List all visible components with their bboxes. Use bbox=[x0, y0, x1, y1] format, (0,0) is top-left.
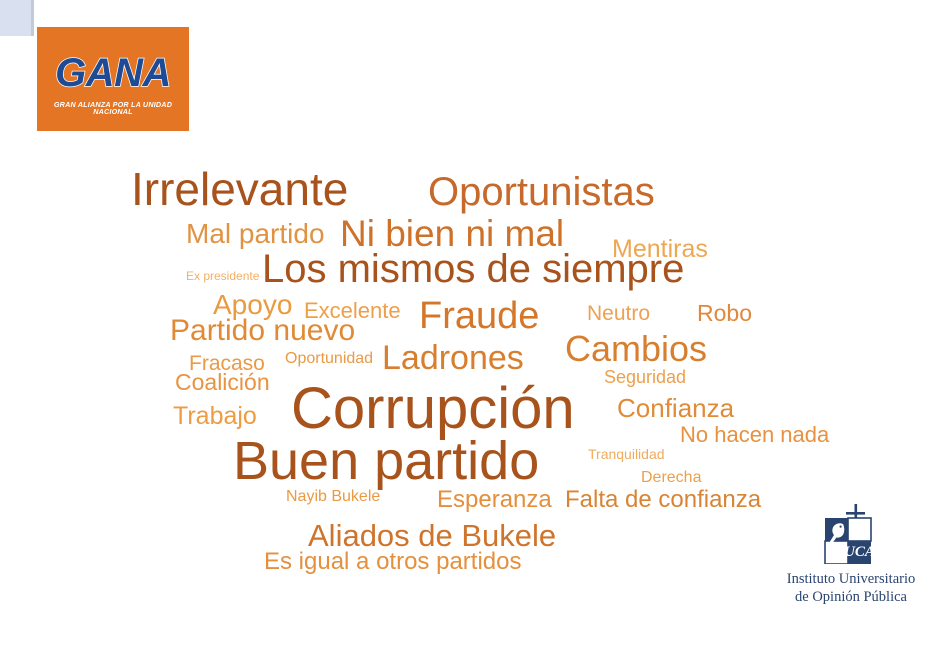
cloud-word: Nayib Bukele bbox=[286, 489, 380, 505]
cloud-word: Oportunidad bbox=[285, 351, 373, 367]
cloud-word: Aliados de Bukele bbox=[308, 520, 556, 551]
cloud-word: Derecha bbox=[641, 470, 701, 486]
cloud-word: Seguridad bbox=[604, 368, 686, 386]
cloud-word: Cambios bbox=[565, 331, 707, 367]
cloud-word: Oportunistas bbox=[428, 172, 655, 212]
iudop-caption: Instituto Universitario de Opinión Públi… bbox=[766, 570, 936, 606]
cloud-word: Mal partido bbox=[186, 220, 325, 248]
cloud-word: Robo bbox=[697, 302, 752, 325]
cloud-word: Fraude bbox=[419, 297, 539, 335]
cloud-word: Es igual a otros partidos bbox=[264, 550, 521, 574]
cloud-word: Ex presidente bbox=[186, 270, 259, 282]
cloud-word: Trabajo bbox=[173, 404, 257, 429]
cloud-word: Corrupción bbox=[291, 380, 575, 438]
svg-text:UCA: UCA bbox=[844, 544, 875, 560]
cloud-word: Neutro bbox=[587, 303, 650, 324]
iudop-caption-line-2: de Opinión Pública bbox=[766, 588, 936, 606]
cloud-word: Coalición bbox=[175, 371, 270, 394]
uca-dove-cross-icon: UCA bbox=[810, 502, 884, 564]
cloud-word: Buen partido bbox=[233, 434, 539, 488]
cloud-word: Tranquilidad bbox=[588, 447, 665, 461]
iudop-caption-line-1: Instituto Universitario bbox=[766, 570, 936, 588]
cloud-word: Falta de confianza bbox=[565, 488, 761, 512]
cloud-word: Esperanza bbox=[437, 488, 552, 512]
cloud-word: Ladrones bbox=[382, 341, 524, 375]
cloud-word: Irrelevante bbox=[131, 166, 348, 212]
cloud-word: Partido nuevo bbox=[170, 316, 355, 346]
cloud-word: Los mismos de siempre bbox=[262, 249, 684, 289]
iudop-logo: UCA Instituto Universitario de Opinión P… bbox=[766, 502, 936, 614]
slide-canvas: GANA GRAN ALIANZA POR LA UNIDAD NACIONAL… bbox=[0, 0, 951, 648]
cloud-word: Confianza bbox=[617, 395, 734, 421]
cloud-word: No hacen nada bbox=[680, 424, 829, 446]
